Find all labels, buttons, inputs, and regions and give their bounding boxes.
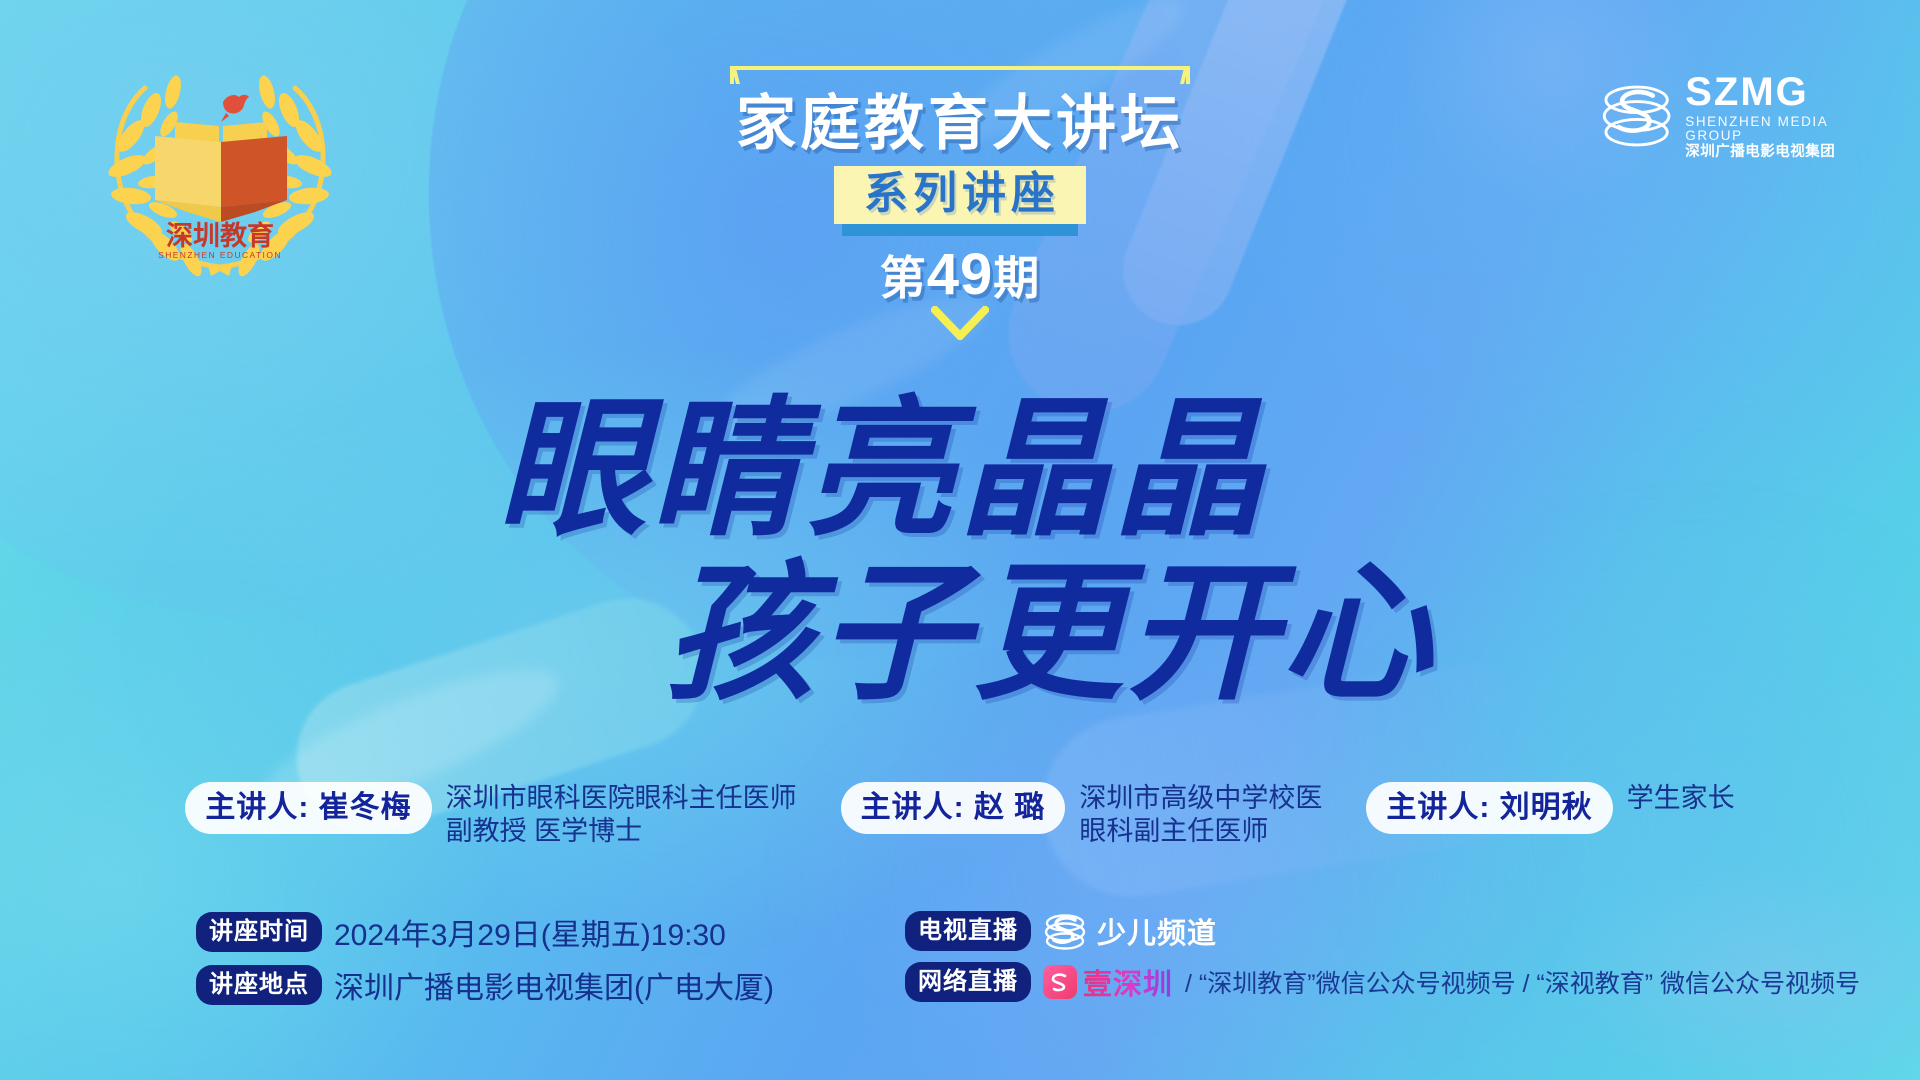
- speaker-item: 主讲人: 崔冬梅 深圳市眼科医院眼科主任医师 副教授 医学博士: [185, 782, 796, 849]
- speaker-name-pill: 主讲人: 赵 璐: [841, 782, 1066, 834]
- szmg-text-block: SZMG SHENZHEN MEDIA GROUP 深圳广播电影电视集团: [1685, 72, 1860, 160]
- speaker-name-pill: 主讲人: 刘明秋: [1366, 782, 1612, 834]
- laurel-wreath-emblem-icon: 深圳教育 SHENZHEN EDUCATION: [95, 62, 345, 277]
- main-title-block: 眼睛亮晶晶 孩子更开心: [0, 388, 1920, 714]
- speaker-credentials: 深圳市眼科医院眼科主任医师 副教授 医学博士: [446, 782, 797, 849]
- speaker-list: 主讲人: 崔冬梅 深圳市眼科医院眼科主任医师 副教授 医学博士 主讲人: 赵 璐…: [0, 782, 1920, 849]
- tv-channel-name: 少儿频道: [1097, 910, 1217, 952]
- speaker-credentials: 深圳市高级中学校医 眼科副主任医师: [1079, 782, 1322, 849]
- open-book-icon: [155, 122, 287, 222]
- main-title-line-1: 眼睛亮晶晶: [0, 388, 1842, 550]
- web-channels-line-1: / “深圳教育”微信公众号视频号 / “深视教育” 微信公众号视频号: [1185, 964, 1860, 1000]
- web-separator: /: [1185, 970, 1192, 998]
- speaker-name-pill: 主讲人: 崔冬梅: [185, 782, 431, 834]
- edu-logo-en-name: SHENZHEN EDUCATION: [158, 250, 282, 260]
- web-channels-text-1: “深圳教育”微信公众号视频号 / “深视教育” 微信公众号视频号: [1199, 970, 1860, 998]
- lecture-time-value: 2024年3月29日(星期五)19:30: [334, 910, 726, 954]
- lecture-details-column: 讲座时间 2024年3月29日(星期五)19:30 讲座地点 深圳广播电影电视集…: [196, 910, 774, 1016]
- lecture-time-tag: 讲座时间: [196, 912, 322, 951]
- web-broadcast-tag: 网络直播: [905, 962, 1031, 1001]
- szmg-cn-name: 深圳广播电影电视集团: [1685, 145, 1860, 160]
- tv-broadcast-tag: 电视直播: [905, 911, 1031, 950]
- broadcast-column: 电视直播 少儿频道 网络直播: [905, 910, 1860, 1012]
- szmg-logo: SZMG SHENZHEN MEDIA GROUP 深圳广播电影电视集团: [1600, 68, 1860, 164]
- szmg-en-name: SHENZHEN MEDIA GROUP: [1685, 115, 1860, 142]
- issue-number-label: 第49期: [680, 246, 1240, 304]
- szmg-swirl-icon: [1043, 911, 1087, 951]
- yi-shenzhen-name: 壹深圳: [1083, 961, 1173, 1003]
- bird-icon: [223, 95, 249, 114]
- yi-shenzhen-app-icon: [1043, 965, 1077, 999]
- lecture-venue-tag: 讲座地点: [196, 965, 322, 1004]
- poster-header: 深圳教育 SHENZHEN EDUCATION 家庭教育大讲坛 系列讲座 第49…: [0, 0, 1920, 340]
- forum-title-block: 家庭教育大讲坛 系列讲座 第49期: [680, 66, 1240, 345]
- poster-root: 深圳教育 SHENZHEN EDUCATION 家庭教育大讲坛 系列讲座 第49…: [0, 0, 1920, 1080]
- yi-shenzhen-logo: 壹深圳: [1043, 961, 1173, 1003]
- issue-suffix: 期: [993, 252, 1040, 304]
- web-broadcast-row: 网络直播 壹深圳 / “深圳教育”微信公众号视频号 / “深视教育” 微信公众号…: [905, 961, 1860, 1003]
- szmg-swirl-icon: [1600, 72, 1673, 160]
- szmg-abbr: SZMG: [1685, 72, 1860, 112]
- main-title-line-2: 孩子更开心: [90, 552, 1920, 714]
- lecture-time-row: 讲座时间 2024年3月29日(星期五)19:30: [196, 910, 774, 954]
- lecture-venue-value: 深圳广播电影电视集团(广电大厦): [334, 963, 774, 1007]
- tv-broadcast-row: 电视直播 少儿频道: [905, 910, 1860, 952]
- speaker-item: 主讲人: 刘明秋 学生家长: [1366, 782, 1734, 834]
- title-frame-decoration: [730, 66, 1190, 84]
- speaker-credentials: 学生家长: [1627, 782, 1735, 815]
- forum-title: 家庭教育大讲坛: [680, 94, 1240, 154]
- tv-channel: 少儿频道: [1043, 910, 1217, 952]
- chevron-down-icon: [931, 306, 989, 340]
- lecture-venue-row: 讲座地点 深圳广播电影电视集团(广电大厦): [196, 963, 774, 1007]
- issue-number: 49: [927, 242, 994, 307]
- series-badge: 系列讲座: [834, 166, 1086, 224]
- speaker-item: 主讲人: 赵 璐 深圳市高级中学校医 眼科副主任医师: [841, 782, 1323, 849]
- edu-logo-cn-name: 深圳教育: [166, 220, 274, 251]
- bottom-info: 讲座时间 2024年3月29日(星期五)19:30 讲座地点 深圳广播电影电视集…: [0, 910, 1920, 1080]
- issue-prefix: 第: [880, 252, 927, 304]
- shenzhen-education-logo: 深圳教育 SHENZHEN EDUCATION: [95, 62, 345, 277]
